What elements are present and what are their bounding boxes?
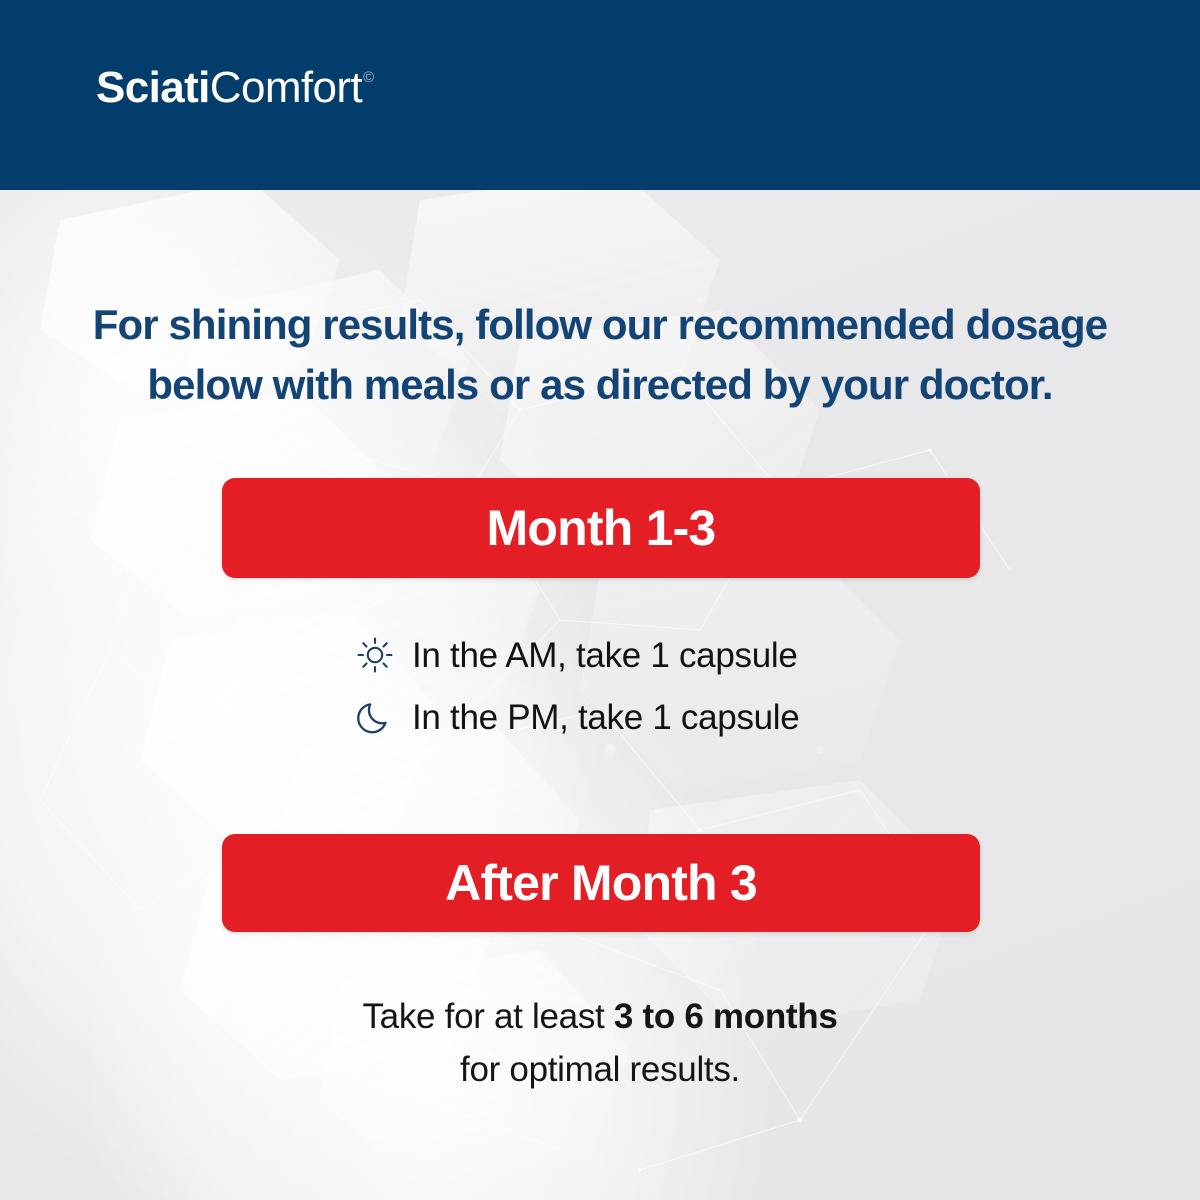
headline-line-2: below with meals or as directed by your …: [60, 355, 1140, 415]
moon-icon: [352, 694, 398, 740]
footnote-duration: 3 to 6 months: [614, 997, 838, 1036]
banner-after-month-3-label: After Month 3: [445, 858, 757, 908]
dosage-item-pm: In the PM, take 1 capsule: [0, 686, 1200, 748]
sun-icon: [352, 632, 398, 678]
banner-month-1-3[interactable]: Month 1-3: [222, 478, 980, 578]
dosage-item-pm-label: In the PM, take 1 capsule: [412, 700, 799, 735]
header-band: SciatiComfort©: [0, 0, 1200, 190]
brand-logo-light: Comfort: [210, 63, 362, 112]
brand-logo[interactable]: SciatiComfort©: [96, 66, 373, 110]
footnote-line-2: for optimal results.: [60, 1043, 1140, 1096]
brand-logo-bold: Sciati: [96, 63, 210, 112]
copyright-mark: ©: [363, 69, 373, 86]
footnote: Take for at least 3 to 6 months for opti…: [60, 990, 1140, 1096]
headline-line-1: For shining results, follow our recommen…: [60, 295, 1140, 355]
footnote-line-1: Take for at least 3 to 6 months: [60, 990, 1140, 1043]
dosage-instruction-page: SciatiComfort© For shining results, foll…: [0, 0, 1200, 1200]
footnote-prefix: Take for at least: [362, 997, 613, 1036]
dosage-item-am: In the AM, take 1 capsule: [0, 624, 1200, 686]
banner-after-month-3[interactable]: After Month 3: [222, 834, 980, 932]
page-title: For shining results, follow our recommen…: [60, 295, 1140, 414]
dosage-list: In the AM, take 1 capsule In the PM, tak…: [0, 624, 1200, 748]
dosage-item-am-label: In the AM, take 1 capsule: [412, 638, 798, 673]
banner-month-1-3-label: Month 1-3: [487, 503, 716, 553]
